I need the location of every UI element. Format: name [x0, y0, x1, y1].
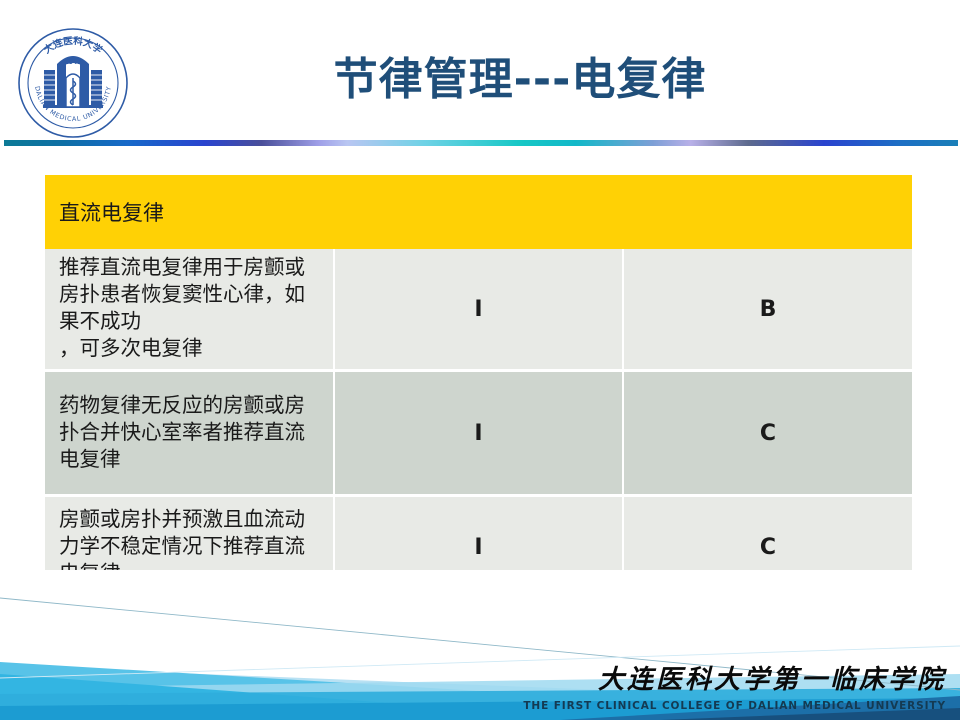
slide-title: 节律管理---电复律	[200, 56, 840, 104]
recommendation-line-1: 推荐直流电复律用于房颤或房扑患者恢复窦性心律，如果不成功	[59, 257, 305, 333]
recommendation-table: 直流电复律 推荐直流电复律用于房颤或房扑患者恢复窦性心律，如果不成功，可多次电复…	[45, 175, 912, 597]
table-row: 药物复律无反应的房颤或房扑合并快心室率者推荐直流电复律 I C	[45, 372, 912, 494]
table-header-row: 直流电复律	[45, 175, 912, 249]
recommendation-line-2: ，可多次电复律	[59, 338, 203, 360]
logo-year: 1947	[65, 59, 82, 66]
title-divider-rule	[4, 140, 958, 146]
category-header-label: 直流电复律	[45, 175, 912, 249]
footer-institution-cn: 大连医科大学第一临床学院	[598, 659, 946, 696]
recommendation-class: I	[334, 372, 623, 494]
evidence-level: C	[623, 372, 912, 494]
table-row: 推荐直流电复律用于房颤或房扑患者恢复窦性心律，如果不成功，可多次电复律 I B	[45, 249, 912, 369]
slide-canvas: 1947 大连医科大学 DALIAN MEDICAL UNIVERSITY 节律…	[0, 0, 960, 720]
recommendation-text: 推荐直流电复律用于房颤或房扑患者恢复窦性心律，如果不成功，可多次电复律	[45, 249, 334, 369]
recommendation-text: 药物复律无反应的房颤或房扑合并快心室率者推荐直流电复律	[45, 372, 334, 494]
evidence-level: B	[623, 249, 912, 369]
footer-institution-en: THE FIRST CLINICAL COLLEGE OF DALIAN MED…	[523, 700, 946, 712]
university-logo: 1947 大连医科大学 DALIAN MEDICAL UNIVERSITY	[16, 26, 130, 140]
footer-wave-decoration	[0, 570, 960, 720]
recommendation-class: I	[334, 249, 623, 369]
